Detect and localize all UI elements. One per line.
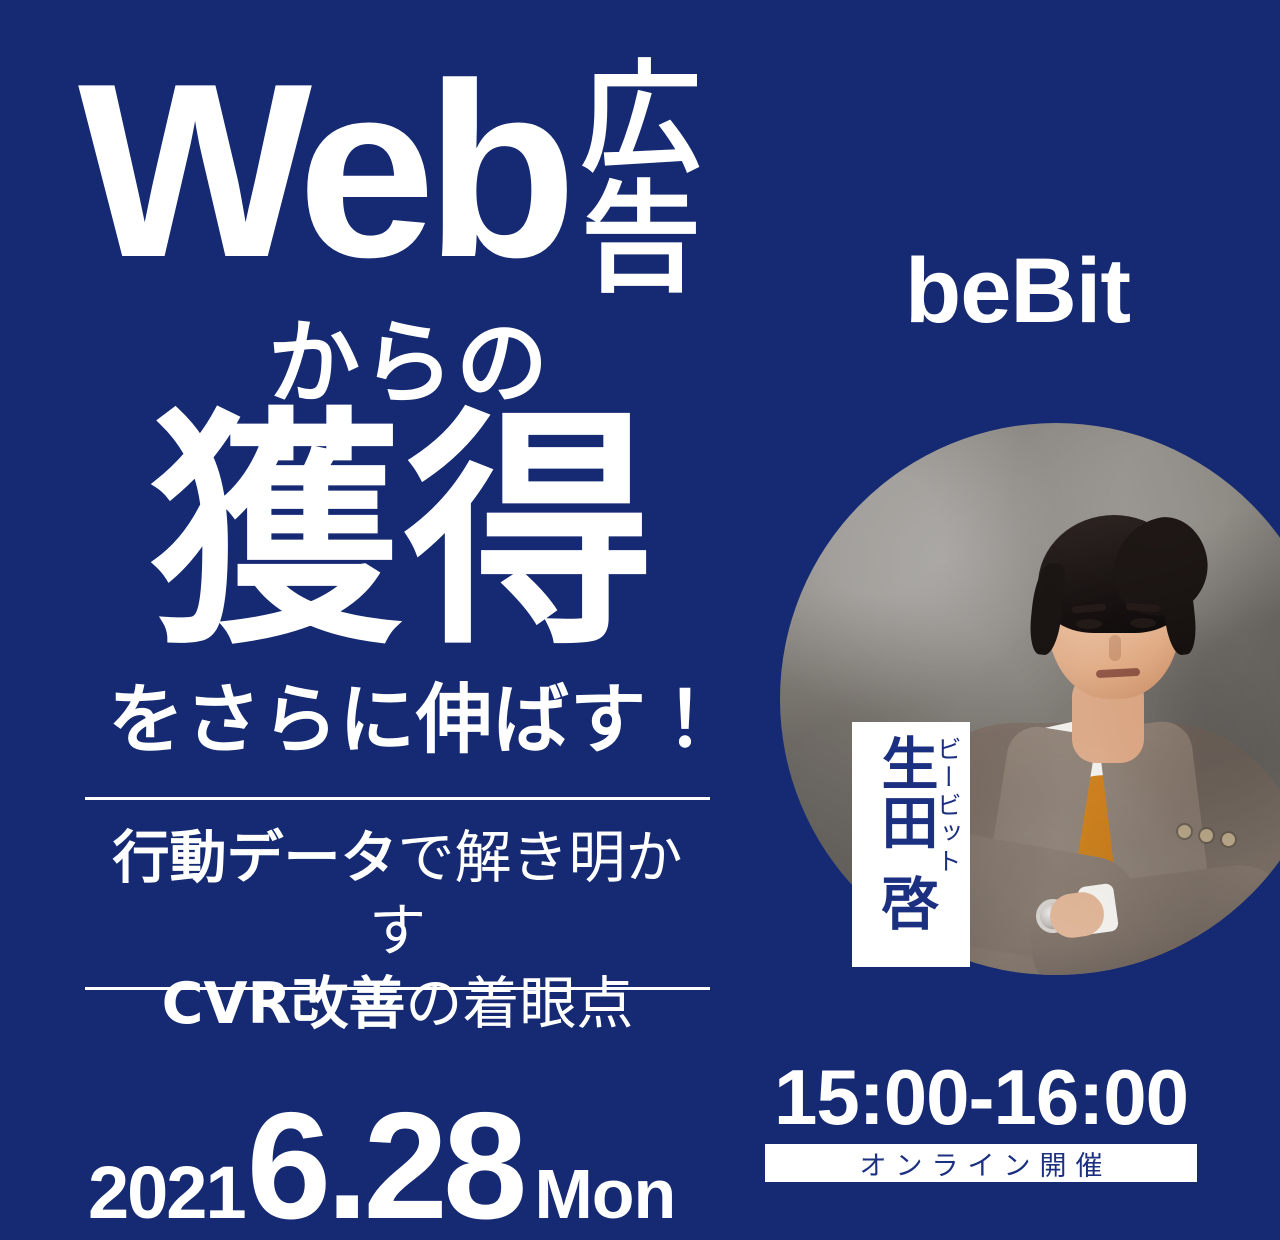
subtitle-line-2: CVR改善の着眼点	[85, 968, 710, 1041]
eye-left	[1076, 619, 1102, 629]
headline-kanji-stack: 広 告	[581, 60, 701, 300]
subtitle-line-1-normal: で解き明かす	[369, 825, 683, 964]
speaker-nameplate: ビービット 生田 啓	[852, 722, 970, 967]
blazer-button-3	[1222, 833, 1235, 846]
divider-top	[85, 797, 710, 800]
speaker-company-kana: ビービット	[935, 736, 960, 876]
divider-bottom	[85, 987, 710, 990]
blazer-button-1	[1178, 825, 1191, 838]
subtitle-block: 行動データで解き明かす CVR改善の着眼点	[85, 822, 710, 1041]
eye-right	[1130, 618, 1156, 628]
subtitle-line-2-normal: の着眼点	[405, 971, 633, 1037]
blazer-button-2	[1200, 829, 1213, 842]
headline-latin-word: Web	[78, 56, 567, 284]
headline-kanji-1: 広	[581, 60, 701, 180]
headline-tagline: をさらに伸ばす！	[108, 682, 724, 758]
headline-main: Web 広 告	[78, 56, 701, 300]
webinar-poster: Web 広 告 からの 獲得 をさらに伸ばす！ 行動データで解き明かす CVR改…	[0, 0, 1280, 1240]
event-date: 2021 6.28 Mon	[88, 1090, 675, 1240]
event-month-day: 6.28	[247, 1090, 523, 1240]
speaker-name: 生田 啓	[875, 734, 935, 933]
event-time: 15:00-16:00	[765, 1058, 1197, 1136]
headline-kanji-2: 告	[581, 180, 701, 300]
headline-main-kanji: 獲得	[150, 408, 658, 658]
subtitle-line-2-bold: CVR改善	[162, 971, 406, 1037]
event-format-badge: オンライン開催	[765, 1144, 1197, 1182]
subtitle-line-1-bold: 行動データ	[113, 825, 398, 891]
bebit-logo: beBit	[905, 245, 1130, 337]
nose	[1109, 635, 1121, 661]
event-time-block: 15:00-16:00 オンライン開催	[765, 1058, 1197, 1182]
event-day-of-week: Mon	[534, 1154, 675, 1234]
event-year: 2021	[88, 1150, 245, 1235]
subtitle-line-1: 行動データで解き明かす	[85, 822, 710, 968]
